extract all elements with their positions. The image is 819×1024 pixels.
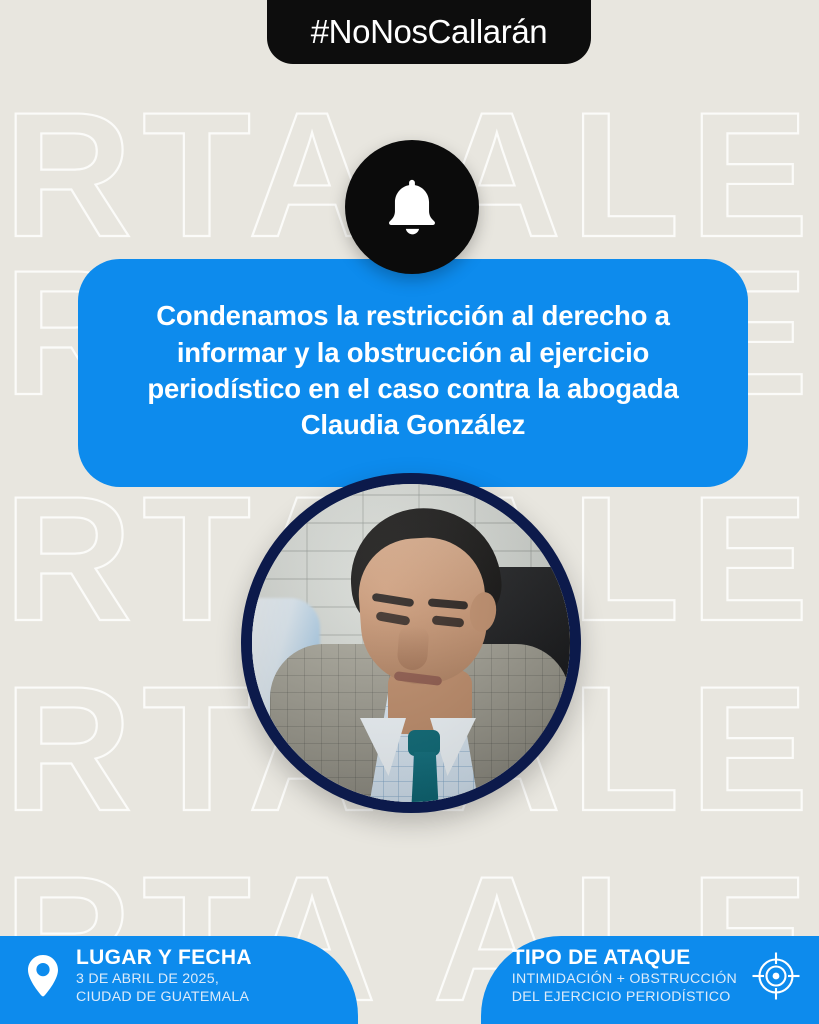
alert-bell-badge [345, 140, 479, 274]
place-and-date-subtitle: 3 DE ABRIL DE 2025, CIUDAD DE GUATEMALA [76, 971, 252, 1006]
hashtag-badge: #NoNosCallarán [267, 0, 591, 64]
attack-type-title: TIPO DE ATAQUE [512, 946, 691, 970]
place-and-date-text: LUGAR Y FECHA 3 DE ABRIL DE 2025, CIUDAD… [76, 946, 252, 1006]
place-and-date-title: LUGAR Y FECHA [76, 946, 252, 970]
hashtag-label: #NoNosCallarán [311, 13, 548, 51]
headline-banner: Condenamos la restricción al derecho a i… [78, 259, 748, 487]
alert-poster: ALERTA ALERTA ALERTA ALERTA ALERTA ALERT… [0, 0, 819, 1024]
portrait-photo [241, 473, 581, 813]
attack-type-panel: TIPO DE ATAQUE INTIMIDACIÓN + OBSTRUCCIÓ… [481, 936, 819, 1024]
headline-text: Condenamos la restricción al derecho a i… [116, 298, 710, 443]
attack-type-subtitle: INTIMIDACIÓN + OBSTRUCCIÓN DEL EJERCICIO… [512, 971, 737, 1006]
portrait-illustration [252, 484, 570, 802]
bell-icon [381, 176, 443, 238]
map-pin-icon [26, 954, 60, 998]
target-crosshair-icon [751, 951, 801, 1001]
attack-type-text: TIPO DE ATAQUE INTIMIDACIÓN + OBSTRUCCIÓ… [512, 946, 737, 1006]
place-and-date-panel: LUGAR Y FECHA 3 DE ABRIL DE 2025, CIUDAD… [0, 936, 358, 1024]
